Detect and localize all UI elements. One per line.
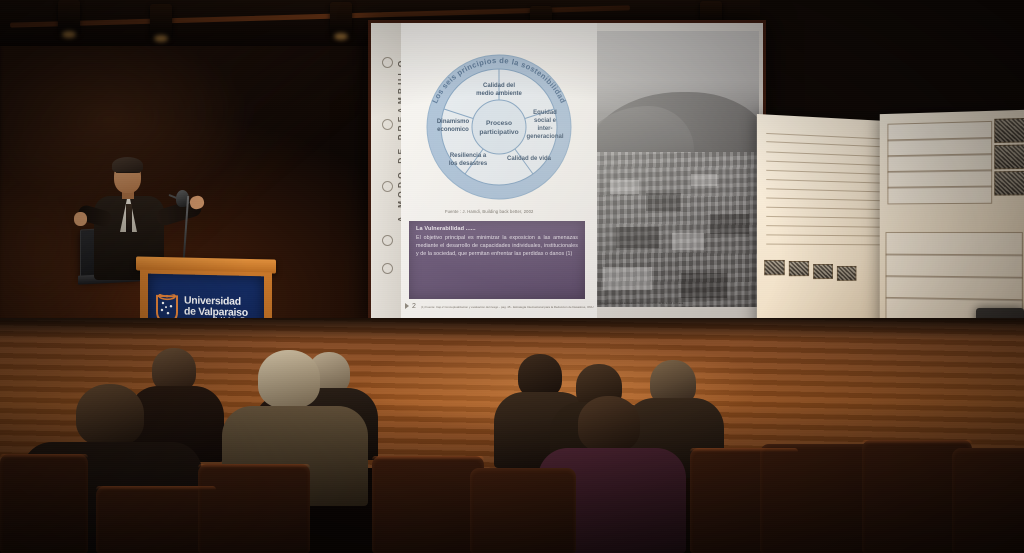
seat-back-rim — [690, 448, 798, 452]
photo-caption: Vista panoramica del anfiteatro urbano y… — [599, 302, 757, 306]
wheel-seg-bl-l1: Resiliencia a — [450, 153, 487, 159]
seat-back-rim — [0, 454, 88, 458]
rooftop — [646, 193, 682, 212]
seat-back-rim — [372, 456, 484, 460]
wheel-seg-bl-l2: los desastres — [449, 161, 488, 167]
presenter-tie — [126, 204, 132, 232]
stage-light-icon — [58, 0, 80, 34]
poster-thumbnail — [789, 261, 809, 276]
town-rooftops — [597, 152, 759, 307]
wheel-seg-right-l1: Equidad — [533, 110, 557, 116]
diagram-source: Fuente : J. Hamdi, Building back better,… — [445, 209, 595, 214]
wheel-seg-right-l3: inter- — [538, 126, 553, 132]
theater-seat — [760, 444, 872, 553]
binder-strip: A MODO DE PREAMBULO — [371, 23, 402, 325]
binder-ring-icon — [382, 57, 393, 68]
callout-body: El objetivo principal es minimizar la ex… — [416, 234, 578, 259]
rooftop — [691, 174, 717, 186]
stage-light-icon — [330, 2, 352, 36]
poster-thumbnail — [994, 171, 1024, 196]
sustainability-wheel-diagram: Los seis principios de la sostenibilidad… — [413, 35, 585, 205]
diagram-panel: Los seis principios de la sostenibilidad… — [401, 23, 597, 325]
audience-area — [0, 336, 1024, 553]
slide-number: 2 — [405, 303, 416, 310]
wheel-seg-left-l1: Dinamismo — [437, 119, 470, 125]
seat-back-rim — [96, 486, 216, 490]
wheel-svg: Los seis principios de la sostenibilidad… — [413, 35, 585, 205]
presenter-hair — [112, 157, 143, 173]
slide-footnote: (1) Fuente: Cap.2 Conceptualizacion y ev… — [421, 305, 621, 309]
theater-seat — [198, 464, 310, 553]
rooftop — [672, 233, 704, 250]
callout-title: La Vulnerabilidad ...... — [416, 226, 578, 232]
slide-content: Los seis principios de la sostenibilidad… — [401, 23, 763, 325]
poster-thumbnail — [764, 260, 785, 275]
auditorium-photo: A MODO DE PREAMBULO — [0, 0, 1024, 553]
binder-ring-icon — [382, 181, 393, 192]
wheel-seg-right-l2: social e — [534, 118, 557, 124]
presenter-left-hand — [74, 212, 87, 226]
poster-thumbnail — [994, 144, 1024, 169]
wheel-seg-br: Calidad de vida — [507, 156, 552, 162]
wheel-seg-top-l1: Calidad del — [483, 83, 515, 89]
theater-seat — [952, 448, 1024, 553]
theater-seat — [372, 456, 484, 553]
seat-back-rim — [198, 464, 310, 468]
seat-back-rim — [862, 440, 972, 444]
wheel-seg-top-l2: medio ambiente — [476, 91, 522, 97]
binder-ring-icon — [382, 263, 393, 274]
theater-seat — [0, 454, 88, 553]
presentation-slide: A MODO DE PREAMBULO — [371, 23, 763, 325]
rooftop — [616, 227, 658, 249]
play-triangle-icon — [405, 303, 409, 309]
projection-screen: A MODO DE PREAMBULO — [368, 20, 766, 328]
poster-thumbnail — [813, 264, 833, 279]
wheel-center-line2: participativo — [479, 129, 518, 136]
rooftop — [610, 180, 639, 194]
poster-thumbnail — [994, 118, 1024, 143]
rooftop — [681, 273, 726, 298]
binder-ring-icon — [382, 235, 393, 246]
poster-thumbnail — [837, 266, 857, 281]
theater-seat — [470, 468, 576, 553]
wheel-seg-left-l2: economico — [437, 127, 469, 133]
rooftop — [603, 267, 652, 290]
vulnerability-callout: La Vulnerabilidad ...... El objetivo pri… — [409, 221, 585, 299]
wheel-seg-right-l4: generacional — [526, 134, 563, 140]
stage-light-icon — [150, 4, 172, 38]
wheel-center-line1: Proceso — [486, 120, 512, 127]
binder-ring-icon — [382, 119, 393, 130]
glasses-icon — [116, 172, 140, 178]
rooftop — [710, 214, 749, 234]
slide-city-photograph: Vista panoramica del anfiteatro urbano y… — [597, 31, 759, 307]
